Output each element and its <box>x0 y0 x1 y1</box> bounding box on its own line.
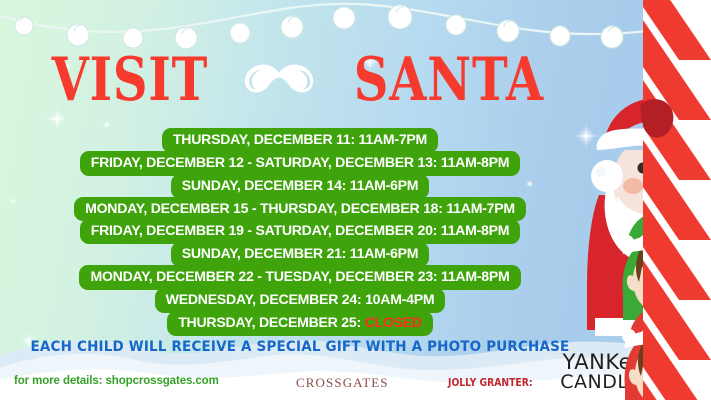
schedule-row: FRIDAY, DECEMBER 12 - SATURDAY, DECEMBER… <box>80 151 521 176</box>
mustache-icon <box>242 60 316 100</box>
schedule-row: SUNDAY, DECEMBER 21: 11AM-6PM <box>171 242 430 267</box>
gift-banner-text: EACH CHILD WILL RECEIVE A SPECIAL GIFT W… <box>21 339 579 355</box>
title-word-visit: VISIT <box>52 50 209 110</box>
crossgates-logo: CROSSGATES <box>296 375 389 391</box>
title-word-santa: SANTA <box>354 50 544 110</box>
schedule-row: MONDAY, DECEMBER 15 - THURSDAY, DECEMBER… <box>74 197 526 222</box>
schedule-row: MONDAY, DECEMBER 22 - TUESDAY, DECEMBER … <box>79 265 520 290</box>
visit-santa-poster: VISIT SANTA THURSDAY, DECEMBER 11: 11AM-… <box>0 0 711 400</box>
schedule-row: SUNDAY, DECEMBER 14: 11AM-6PM <box>171 174 430 199</box>
right-character-panel <box>581 0 711 400</box>
schedule-list: THURSDAY, DECEMBER 11: 11AM-7PM FRIDAY, … <box>0 129 600 335</box>
sponsor-label: JOLLY GRANTER: <box>448 376 533 389</box>
schedule-row: THURSDAY, DECEMBER 11: 11AM-7PM <box>162 128 438 153</box>
schedule-row: WEDNESDAY, DECEMBER 24: 10AM-4PM <box>155 288 446 313</box>
website-url[interactable]: for more details: shopcrossgates.com <box>14 375 219 387</box>
page-title: VISIT SANTA <box>0 44 600 116</box>
schedule-row: FRIDAY, DECEMBER 19 - SATURDAY, DECEMBER… <box>80 219 521 244</box>
